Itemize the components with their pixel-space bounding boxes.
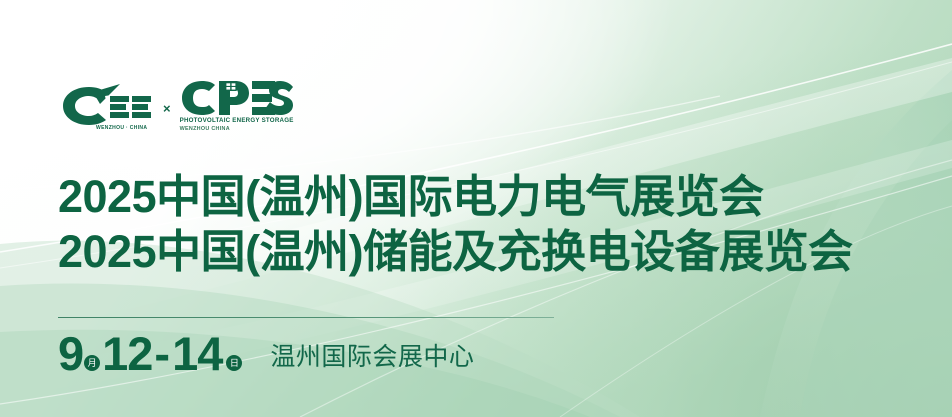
title-line-storage-expo: 2025中国(温州)储能及充换电设备展览会 [58, 225, 853, 280]
horizontal-divider [58, 317, 554, 318]
event-day-start: 12 [102, 331, 152, 376]
exhibition-banner: WENZHOU · CHINA × [0, 0, 952, 417]
event-day-end: 14 [172, 331, 222, 376]
cee-logo-icon [58, 82, 154, 130]
title-line-power-expo: 2025中国(温州)国际电力电气展览会 [58, 170, 853, 225]
event-day-separator: - [154, 331, 170, 376]
cpes-logo-subtitle-location: WENZHOU CHINA [180, 126, 230, 132]
event-date: 9 月 12 - 14 日 [58, 331, 242, 376]
cee-logo: WENZHOU · CHINA [58, 82, 154, 130]
logo-separator-x: × [163, 101, 171, 116]
event-month-number: 9 [58, 331, 83, 376]
banner-titles: 2025中国(温州)国际电力电气展览会 2025中国(温州)储能及充换电设备展览… [58, 170, 853, 280]
cpes-logo-subtitle-en: PHOTOVOLTAIC ENERGY STORAGE [180, 117, 294, 124]
month-unit-badge: 月 [84, 355, 100, 371]
day-unit-badge: 日 [226, 355, 242, 371]
cpes-logo: PHOTOVOLTAIC ENERGY STORAGE WENZHOU CHIN… [180, 78, 295, 130]
event-meta-row: 9 月 12 - 14 日 温州国际会展中心 [58, 331, 474, 376]
logo-lockup: WENZHOU · CHINA × [58, 78, 295, 130]
cee-logo-subtitle: WENZHOU · CHINA [96, 125, 147, 131]
event-venue: 温州国际会展中心 [270, 337, 474, 373]
